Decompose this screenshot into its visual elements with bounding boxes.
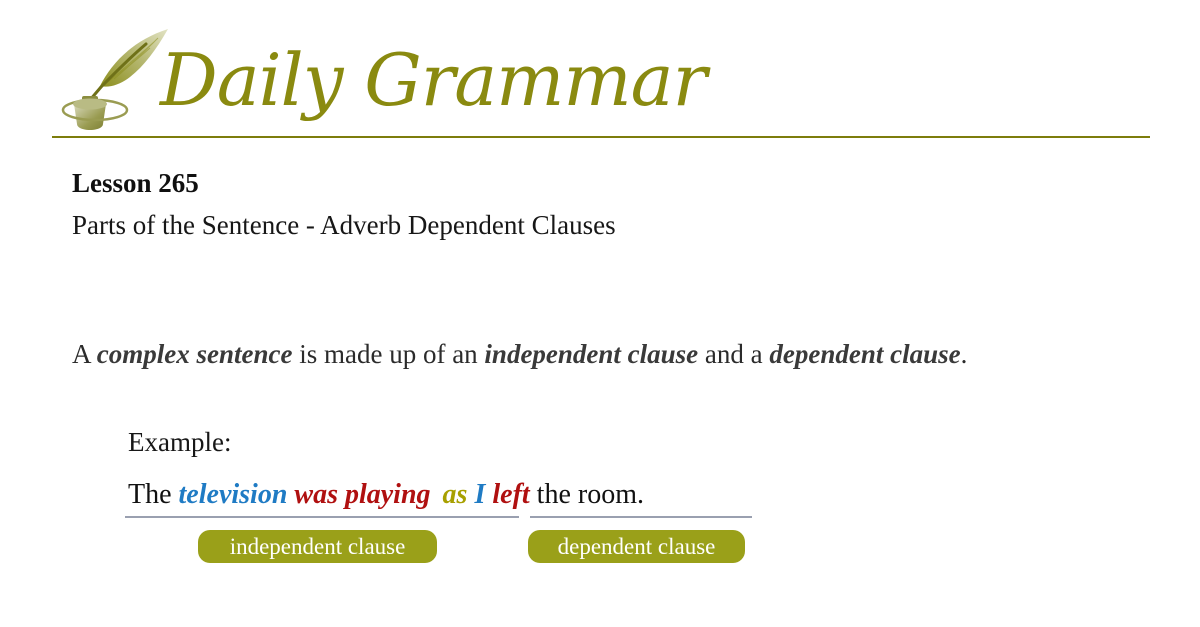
- sentence-verb-2: left: [492, 479, 529, 510]
- term-complex-sentence: complex sentence: [97, 339, 293, 369]
- header-divider: [52, 136, 1150, 138]
- sentence-verb: was playing: [294, 479, 430, 510]
- sentence-lead: The: [128, 479, 179, 510]
- site-header: Daily Grammar: [52, 22, 1150, 140]
- sentence-subject-2: I: [474, 479, 485, 510]
- independent-clause-underline: [125, 516, 519, 518]
- definition-paragraph: A complex sentence is made up of an inde…: [72, 330, 1032, 379]
- sentence-tail: the room.: [530, 479, 644, 510]
- definition-text-4: .: [961, 339, 968, 369]
- definition-text-3: and a: [698, 339, 769, 369]
- example-label: Example:: [128, 425, 231, 459]
- logo-wordmark: Daily Grammar: [160, 36, 706, 124]
- definition-text-1: A: [72, 339, 97, 369]
- site-logo[interactable]: Daily Grammar: [52, 22, 1150, 134]
- lesson-number: Lesson 265: [72, 166, 199, 200]
- term-independent-clause: independent clause: [484, 339, 698, 369]
- badge-independent-clause: independent clause: [198, 530, 437, 563]
- term-dependent-clause: dependent clause: [769, 339, 960, 369]
- sentence-conjunction: as: [443, 479, 468, 510]
- dependent-clause-underline: [530, 516, 752, 518]
- badge-dependent-clause: dependent clause: [528, 530, 745, 563]
- example-sentence: The television was playingas I left the …: [128, 477, 644, 513]
- sentence-subject: television: [179, 479, 288, 510]
- lesson-title: Parts of the Sentence - Adverb Dependent…: [72, 208, 616, 242]
- definition-text-2: is made up of an: [292, 339, 484, 369]
